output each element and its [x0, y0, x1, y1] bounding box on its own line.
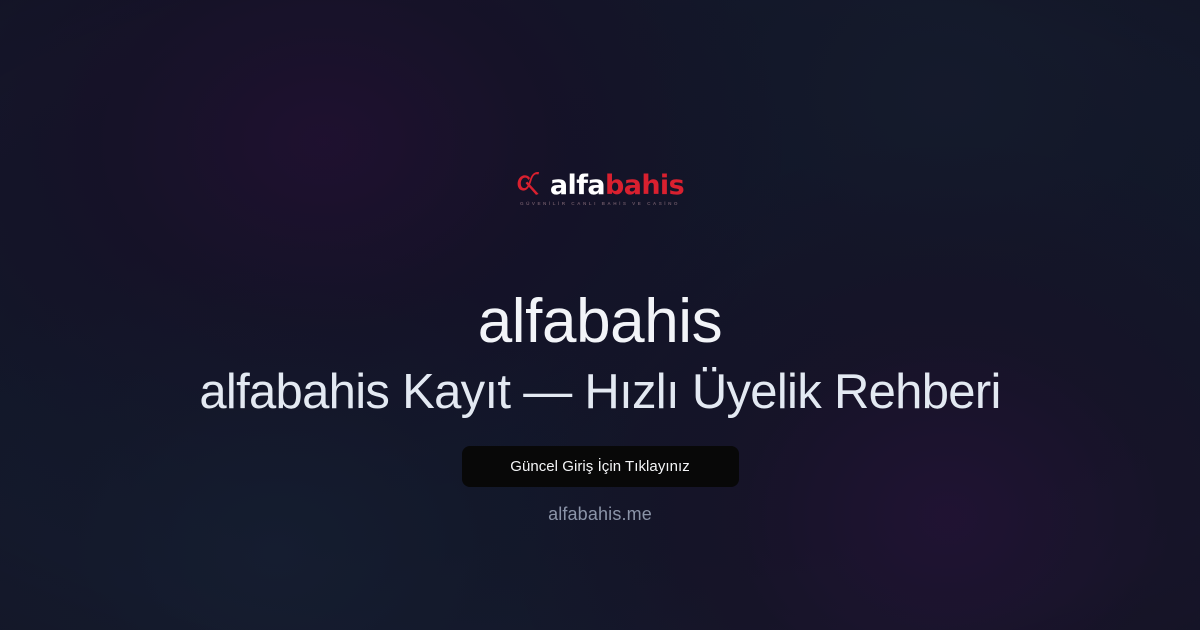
alpha-symbol-icon [516, 169, 546, 197]
hero-content: alfabahis GÜVENİLİR CANLI BAHİS VE CASİN… [0, 0, 1200, 630]
page-subtitle: alfabahis Kayıt — Hızlı Üyelik Rehberi [199, 366, 1000, 419]
brand-logo[interactable]: alfabahis GÜVENİLİR CANLI BAHİS VE CASİN… [516, 166, 684, 207]
brand-logo-row: alfabahis [516, 166, 684, 199]
brand-tagline: GÜVENİLİR CANLI BAHİS VE CASİNO [520, 202, 680, 207]
brand-word-accent: bahis [605, 170, 684, 201]
current-login-cta-button[interactable]: Güncel Giriş İçin Tıklayınız [462, 446, 739, 487]
headline-block: alfabahis alfabahis Kayıt — Hızlı Üyelik… [0, 289, 1200, 526]
site-domain-label: alfabahis.me [548, 504, 652, 525]
page-title: alfabahis [478, 289, 723, 355]
brand-word-primary: alfa [550, 170, 605, 201]
brand-wordmark: alfabahis [550, 172, 684, 199]
